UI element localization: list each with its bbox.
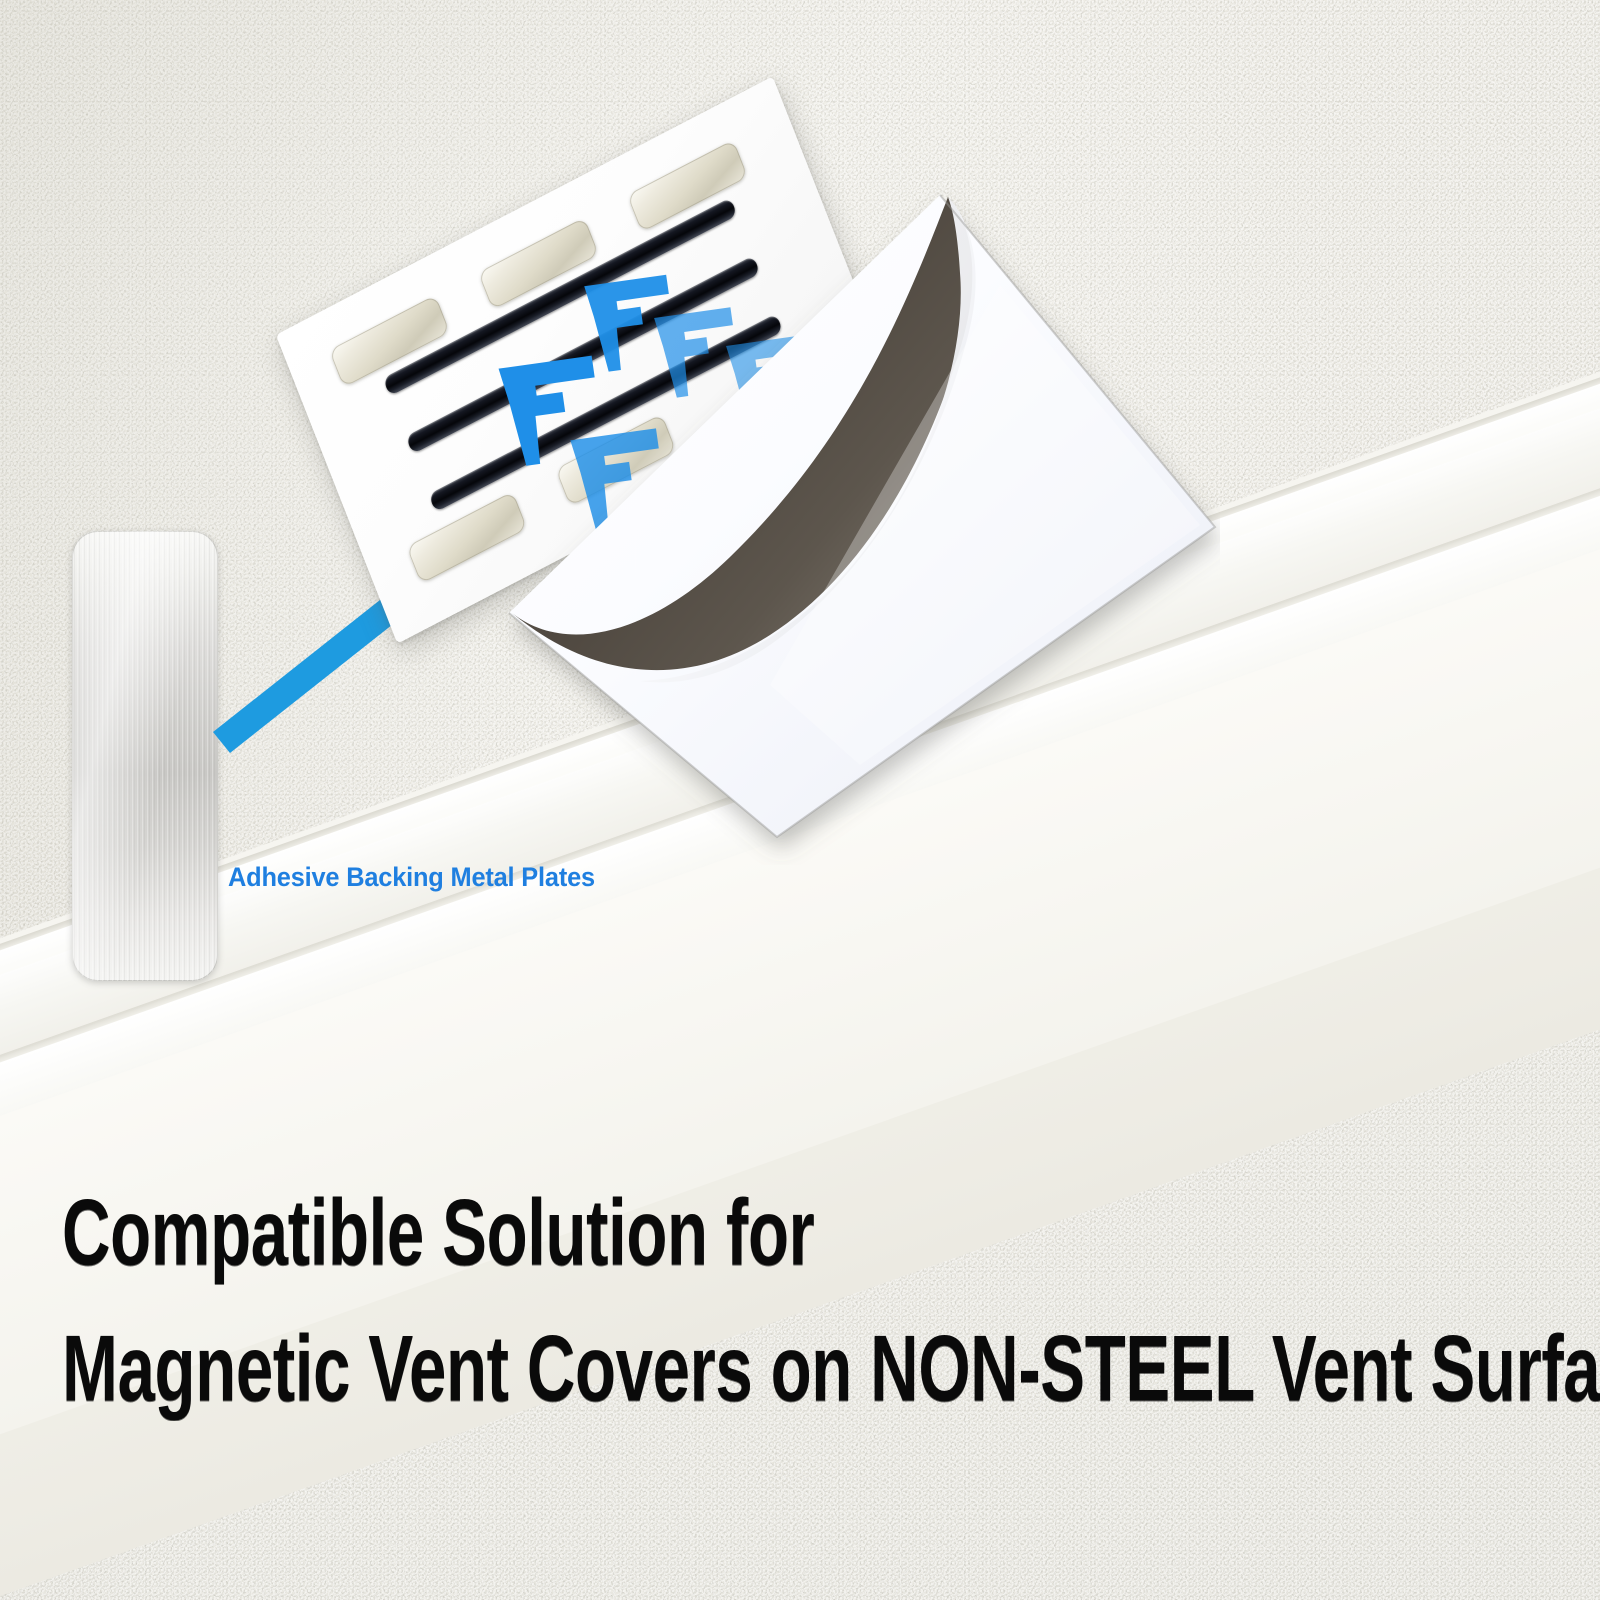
headline: Compatible Solution for Magnetic Vent Co… [62, 1185, 1600, 1405]
headline-line-2: Magnetic Vent Covers on NON-STEEL Vent S… [62, 1321, 1600, 1415]
vent-assembly [300, 165, 1220, 865]
mounted-metal-plate [406, 491, 527, 584]
infographic-canvas: Adhesive Backing Metal Plates [0, 0, 1600, 1600]
headline-line-1: Compatible Solution for [62, 1185, 1600, 1279]
callout-label: Adhesive Backing Metal Plates [228, 862, 595, 893]
